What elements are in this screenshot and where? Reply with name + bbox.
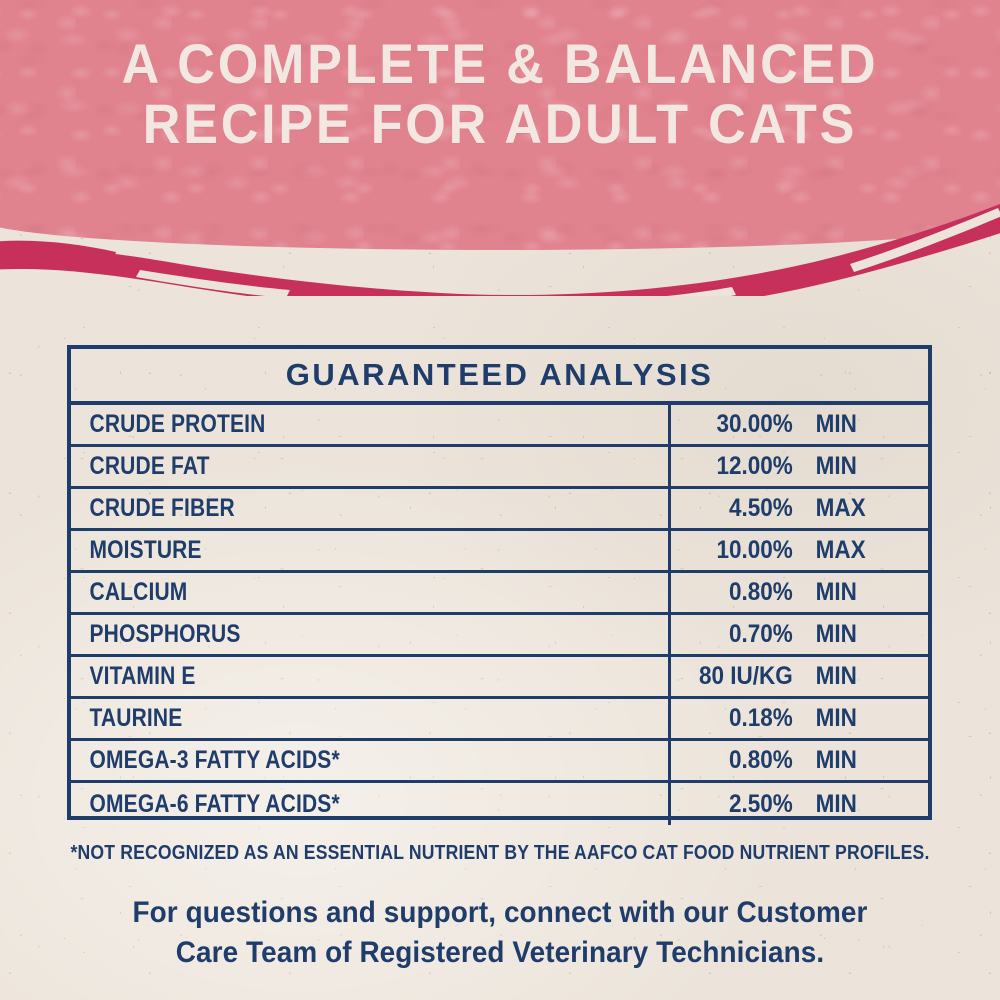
nutrient-qualifier: MIN: [803, 704, 857, 733]
packaging-panel: A COMPLETE & BALANCED RECIPE FOR ADULT C…: [0, 0, 1000, 1000]
nutrient-qualifier: MIN: [803, 790, 857, 819]
nutrient-value-cell: 80 IU/KG MIN: [668, 657, 928, 696]
nutrient-qualifier: MAX: [803, 494, 866, 523]
nutrient-amount: 10.00%: [678, 536, 797, 565]
table-row: CRUDE FIBER 4.50% MAX: [71, 489, 928, 531]
nutrient-qualifier: MAX: [803, 536, 866, 565]
nutrient-name: PHOSPHORUS: [71, 615, 572, 654]
nutrient-qualifier: MIN: [803, 578, 857, 607]
nutrient-value-cell: 0.80% MIN: [668, 573, 928, 612]
support-line-2: Care Team of Registered Veterinary Techn…: [35, 933, 965, 973]
nutrient-name: MOISTURE: [71, 531, 572, 570]
nutrient-name: VITAMIN E: [71, 657, 572, 696]
nutrient-amount: 80 IU/KG: [678, 662, 797, 691]
nutrient-amount: 4.50%: [678, 494, 797, 523]
nutrient-amount: 30.00%: [678, 410, 797, 439]
nutrient-name: CALCIUM: [71, 573, 572, 612]
hero-headline-line-2: RECIPE FOR ADULT CATS: [35, 94, 965, 154]
support-line-1: For questions and support, connect with …: [35, 893, 965, 933]
nutrient-value-cell: 0.18% MIN: [668, 699, 928, 738]
table-row: OMEGA-3 FATTY ACIDS* 0.80% MIN: [71, 741, 928, 783]
table-row: TAURINE 0.18% MIN: [71, 699, 928, 741]
nutrient-value-cell: 12.00% MIN: [668, 447, 928, 486]
nutrient-value-cell: 10.00% MAX: [668, 531, 928, 570]
nutrient-amount: 12.00%: [678, 452, 797, 481]
aafco-footnote: *NOT RECOGNIZED AS AN ESSENTIAL NUTRIENT…: [60, 842, 940, 865]
nutrient-qualifier: MIN: [803, 410, 857, 439]
nutrient-name: CRUDE PROTEIN: [71, 405, 572, 444]
nutrient-qualifier: MIN: [803, 452, 857, 481]
guaranteed-analysis-title: GUARANTEED ANALYSIS: [71, 349, 928, 401]
nutrient-amount: 0.80%: [678, 746, 797, 775]
nutrient-name: OMEGA-3 FATTY ACIDS*: [71, 741, 572, 780]
nutrient-qualifier: MIN: [803, 746, 857, 775]
table-row: CALCIUM 0.80% MIN: [71, 573, 928, 615]
nutrient-value-cell: 2.50% MIN: [668, 783, 928, 825]
nutrient-amount: 0.80%: [678, 578, 797, 607]
table-row: CRUDE FAT 12.00% MIN: [71, 447, 928, 489]
nutrient-name: CRUDE FIBER: [71, 489, 572, 528]
nutrient-name: OMEGA-6 FATTY ACIDS*: [71, 783, 572, 825]
guaranteed-analysis-rows: CRUDE PROTEIN 30.00% MIN CRUDE FAT 12.00…: [71, 401, 928, 825]
table-row: OMEGA-6 FATTY ACIDS* 2.50% MIN: [71, 783, 928, 825]
nutrient-value-cell: 4.50% MAX: [668, 489, 928, 528]
nutrient-amount: 0.70%: [678, 620, 797, 649]
nutrient-value-cell: 0.70% MIN: [668, 615, 928, 654]
nutrient-value-cell: 30.00% MIN: [668, 405, 928, 444]
table-row: PHOSPHORUS 0.70% MIN: [71, 615, 928, 657]
nutrient-name: CRUDE FAT: [71, 447, 572, 486]
nutrient-value-cell: 0.80% MIN: [668, 741, 928, 780]
nutrient-name: TAURINE: [71, 699, 572, 738]
hero-banner: A COMPLETE & BALANCED RECIPE FOR ADULT C…: [0, 0, 1000, 300]
table-row: VITAMIN E 80 IU/KG MIN: [71, 657, 928, 699]
guaranteed-analysis-table: GUARANTEED ANALYSIS CRUDE PROTEIN 30.00%…: [67, 345, 932, 820]
nutrient-qualifier: MIN: [803, 620, 857, 649]
customer-support-message: For questions and support, connect with …: [35, 893, 965, 973]
nutrient-amount: 2.50%: [678, 790, 797, 819]
table-row: MOISTURE 10.00% MAX: [71, 531, 928, 573]
nutrient-qualifier: MIN: [803, 662, 857, 691]
nutrient-amount: 0.18%: [678, 704, 797, 733]
hero-headline: A COMPLETE & BALANCED RECIPE FOR ADULT C…: [35, 34, 965, 154]
hero-headline-line-1: A COMPLETE & BALANCED: [35, 34, 965, 94]
table-row: CRUDE PROTEIN 30.00% MIN: [71, 405, 928, 447]
